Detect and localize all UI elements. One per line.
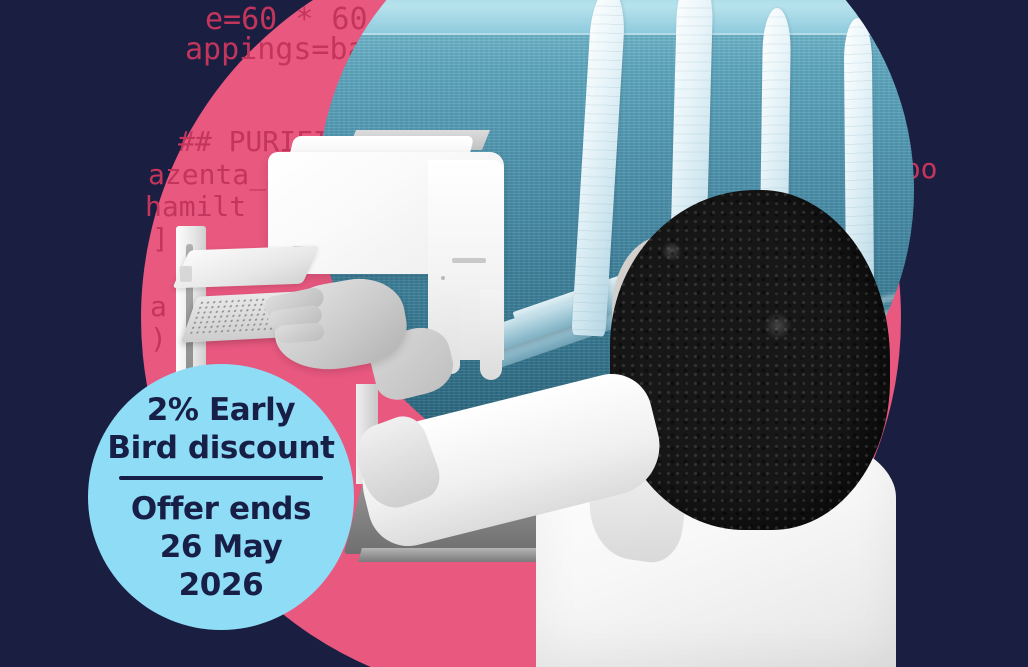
badge-subline-2: 26 May bbox=[131, 528, 311, 566]
badge-offer-end: Offer ends 26 May 2026 bbox=[131, 490, 311, 604]
badge-headline-line-2: Bird discount bbox=[107, 429, 334, 467]
badge-subline-1: Offer ends bbox=[131, 490, 311, 528]
badge-divider bbox=[119, 476, 323, 480]
badge-headline-line-1: 2% Early bbox=[107, 391, 334, 429]
finger bbox=[275, 322, 324, 343]
early-bird-discount-badge[interactable]: 2% Early Bird discount Offer ends 26 May… bbox=[88, 364, 354, 630]
badge-headline: 2% Early Bird discount bbox=[107, 391, 334, 467]
hair bbox=[610, 190, 890, 530]
promo-banner: e=60 * 60, appings=batch_ma ## PURIFICA … bbox=[0, 0, 1028, 667]
badge-subline-3: 2026 bbox=[131, 566, 311, 604]
